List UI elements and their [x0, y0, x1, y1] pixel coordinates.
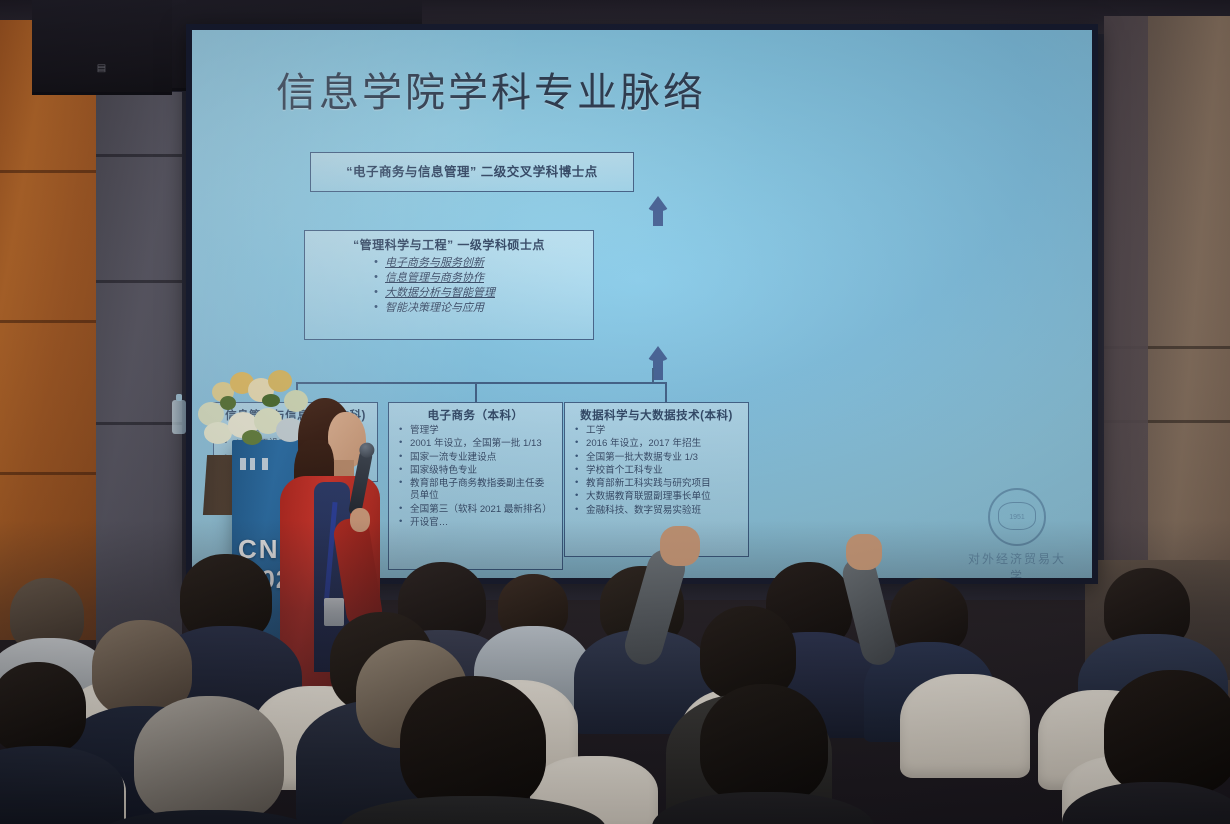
- list-item: 全国第一批大数据专业 1/3: [586, 452, 739, 464]
- list-item: 管理学: [410, 425, 553, 437]
- list-item: 学校首个工科专业: [586, 465, 739, 477]
- audience-head: [0, 662, 86, 754]
- connector-horizontal: [296, 382, 666, 384]
- hand: [660, 526, 700, 566]
- list-item: 大数据分析与智能管理: [385, 286, 583, 300]
- list-item: 2001 年设立，全国第一批 1/13: [410, 438, 553, 450]
- node-master-bullets: 电子商务与服务创新 信息管理与商务协作 大数据分析与智能管理 智能决策理论与应用: [311, 256, 587, 315]
- list-item: 教育部电子商务教指委副主任委员单位: [410, 478, 553, 503]
- speaker-grille-icon: ▤: [97, 63, 107, 74]
- list-item: 教育部新工科实践与研究项目: [586, 478, 739, 490]
- audience-head: [134, 696, 284, 824]
- list-item: 国家一流专业建设点: [410, 452, 553, 464]
- connector-vertical-center: [652, 368, 654, 383]
- audience-head: [400, 676, 546, 812]
- list-item: 信息管理与商务协作: [385, 271, 583, 285]
- list-item: 电子商务与服务创新: [385, 256, 583, 270]
- audience-head: [700, 684, 828, 804]
- node-major-data-science-header: 数据科学与大数据技术(本科): [570, 407, 743, 423]
- node-major-ecommerce-bullets: 管理学 2001 年设立，全国第一批 1/13 国家一流专业建设点 国家级特色专…: [394, 425, 557, 529]
- list-item: 国家级特色专业: [410, 465, 553, 477]
- node-master-program: “管理科学与工程” 一级学科硕士点 电子商务与服务创新 信息管理与商务协作 大数…: [304, 230, 594, 340]
- list-item: 大数据教育联盟副理事长单位: [586, 491, 739, 503]
- list-item: 金融科技、数字贸易实验班: [586, 505, 739, 517]
- list-item: 2016 年设立，2017 年招生: [586, 438, 739, 450]
- slide-title: 信息学院学科专业脉络: [276, 60, 706, 118]
- node-doctoral-program: “电子商务与信息管理” 二级交叉学科博士点: [310, 152, 634, 192]
- audience-head: [1104, 670, 1230, 796]
- connector-drop-center: [475, 382, 477, 402]
- ceiling-speaker-left: ▤: [32, 0, 172, 95]
- list-item: 工学: [586, 425, 739, 437]
- water-bottle: [172, 400, 186, 434]
- conference-photo: ▤ ▤ 信息学院学科专业脉络 “电子商务与信息管理” 二级交叉学科博士点 “管理…: [0, 0, 1230, 824]
- list-item: 全国第三（软科 2021 最新排名）: [410, 504, 553, 516]
- audience: [0, 520, 1230, 824]
- hand: [846, 534, 882, 570]
- node-major-ecommerce-header: 电子商务（本科）: [394, 407, 557, 423]
- podium-logo-icon: [240, 458, 280, 470]
- node-doctoral-header: “电子商务与信息管理” 二级交叉学科博士点: [311, 153, 633, 191]
- connector-drop-right: [665, 382, 667, 402]
- list-item: 智能决策理论与应用: [385, 301, 583, 315]
- node-master-header: “管理科学与工程” 一级学科硕士点: [311, 236, 587, 253]
- chair: [900, 674, 1030, 778]
- node-major-data-science-bullets: 工学 2016 年设立，2017 年招生 全国第一批大数据专业 1/3 学校首个…: [570, 425, 743, 517]
